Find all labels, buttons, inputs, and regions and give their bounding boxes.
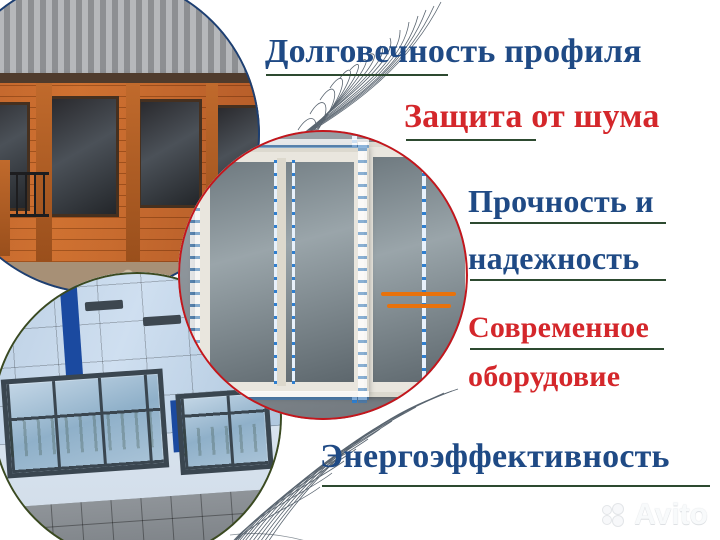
avito-watermark: Avito [603, 500, 708, 530]
headline-equipment-line1-rule [470, 348, 664, 350]
headline-equipment-line1: Современное [468, 311, 649, 345]
avito-wordmark: Avito [634, 500, 708, 530]
headline-durability-rule [266, 74, 448, 76]
headline-noise-protection-rule [406, 139, 536, 141]
headline-noise-protection: Защита от шума [404, 98, 660, 136]
headline-strength-line1-rule [470, 222, 666, 224]
veka-windows-photo [178, 130, 468, 420]
headline-energy-efficiency: Энергоэффективность [320, 438, 670, 476]
headline-energy-efficiency-rule [322, 485, 710, 487]
advertisement-banner: Долговечность профиля Защита от шума Про… [0, 0, 720, 540]
headline-strength-line1: Прочность и [468, 183, 654, 220]
headline-durability: Долговечность профиля [265, 33, 642, 71]
headline-strength-line2-rule [470, 279, 666, 281]
avito-dots-logo-icon [603, 504, 629, 526]
headline-equipment-line2: оборудовие [468, 360, 620, 394]
headline-strength-line2: надежность [468, 240, 639, 277]
photo-circle-veka-windows [178, 130, 468, 420]
